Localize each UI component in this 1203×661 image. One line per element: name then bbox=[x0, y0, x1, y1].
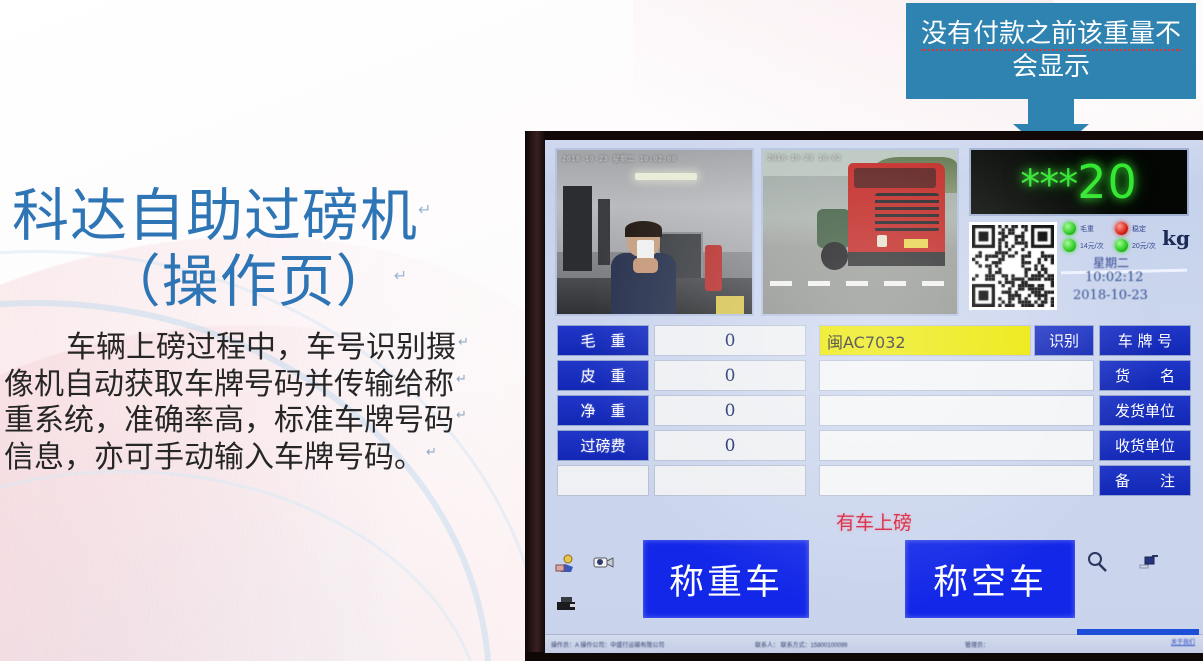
field-value-gross-weight[interactable]: 0 bbox=[654, 325, 806, 356]
weigh-loaded-button[interactable]: 称重车 bbox=[643, 540, 809, 618]
remark-input[interactable] bbox=[819, 465, 1094, 496]
indicator-lamps: 毛重 稳定 14元/次 20元/次 kg bbox=[1063, 220, 1191, 256]
led-stars: *** bbox=[1020, 162, 1077, 208]
field-label-shipper: 发货单位 bbox=[1099, 395, 1191, 426]
search-icon[interactable] bbox=[1085, 550, 1109, 574]
status-message: 有车上磅 bbox=[545, 508, 1203, 535]
camera-timestamp: 2018-10-23 10:02 bbox=[768, 154, 842, 162]
led-weight-display: ***20 bbox=[969, 148, 1189, 216]
callout-box: 没有付款之前该重量不 会显示 bbox=[906, 3, 1196, 99]
body-line-3: 重系统，准确率高，标准车牌号码 bbox=[4, 403, 454, 438]
shipper-input[interactable] bbox=[819, 395, 1094, 426]
indicator-label-gross: 毛重 bbox=[1080, 224, 1094, 234]
operator-camera-feed[interactable]: 2018-10-23 星期二 10:02:00 bbox=[555, 148, 754, 316]
monitor-bezel-top bbox=[525, 131, 1203, 140]
callout-arrow-stem bbox=[1028, 99, 1074, 125]
form-row: 备 注 bbox=[557, 465, 1191, 496]
slide-body-text: 车辆上磅过程中，车号识别摄↵ 像机自动获取车牌号码并传输给称↵ 重系统，准确率高… bbox=[4, 330, 510, 476]
qr-code-icon[interactable] bbox=[969, 222, 1057, 310]
indicator-lamp-fee20 bbox=[1115, 239, 1128, 252]
plate-number-input[interactable]: 闽AC7032 bbox=[819, 325, 1031, 356]
display-panel: ***20 毛重 稳定 14元/次 20元/次 kg 星期 bbox=[965, 146, 1193, 316]
statusbar-left-text: 操作员：A 操作公司：中盛行运输有限公司 bbox=[551, 640, 664, 649]
yellow-object bbox=[716, 296, 743, 314]
truck-bumper bbox=[848, 252, 945, 267]
body-line-2: 像机自动获取车牌号码并传输给称 bbox=[4, 367, 454, 402]
consignee-input[interactable] bbox=[819, 430, 1094, 461]
indicator-lamp-fee14 bbox=[1063, 239, 1076, 252]
camera-timestamp: 2018-10-23 星期二 10:02:00 bbox=[562, 154, 677, 164]
taskbar-highlight bbox=[1077, 629, 1199, 635]
body-pilcrow-4: ↵ bbox=[424, 445, 437, 460]
field-label-plate-number: 车 牌 号 bbox=[1099, 325, 1191, 356]
form-row: 净 重 0 发货单位 bbox=[557, 395, 1191, 426]
printer-icon[interactable] bbox=[555, 596, 579, 612]
form-gap bbox=[806, 360, 815, 391]
unit-label: kg bbox=[1162, 226, 1190, 250]
field-label-consignee: 收货单位 bbox=[1099, 430, 1191, 461]
title-line-2: （操作页） bbox=[104, 249, 394, 315]
title-line-1: 科达自助过磅机 bbox=[12, 183, 418, 249]
form-gap bbox=[806, 395, 815, 426]
field-value-net-weight[interactable]: 0 bbox=[654, 395, 806, 426]
app-status-bar: 操作员：A 操作公司：中盛行运输有限公司 联系人： 联系方式：158001000… bbox=[545, 634, 1203, 653]
field-label-goods-name: 货 名 bbox=[1099, 360, 1191, 391]
camera-icon[interactable] bbox=[591, 554, 615, 572]
callout-text: 没有付款之前该重量不 会显示 bbox=[906, 18, 1196, 85]
weighing-form: 毛 重 0 闽AC7032 识别 车 牌 号 皮 重 0 货 名 bbox=[557, 325, 1191, 500]
body-line-4: 信息，亦可手动输入车牌号码。 bbox=[4, 440, 424, 475]
display-info: 毛重 稳定 14元/次 20元/次 kg 星期二 10:02:12 2018-1… bbox=[1063, 220, 1191, 312]
indicator-label-fee14: 14元/次 bbox=[1080, 241, 1104, 251]
title-pilcrow-2: ↵ bbox=[394, 266, 408, 285]
form-row: 毛 重 0 闽AC7032 识别 车 牌 号 bbox=[557, 325, 1191, 356]
callout-line-1: 没有付款之前该重量不 bbox=[921, 19, 1181, 51]
body-pilcrow-3: ↵ bbox=[454, 408, 467, 423]
goods-name-input[interactable] bbox=[819, 360, 1094, 391]
field-value-tare-weight[interactable]: 0 bbox=[654, 360, 806, 391]
led-number: 20 bbox=[1077, 155, 1138, 209]
wall-panel-2 bbox=[598, 199, 610, 265]
truck-camera-feed[interactable]: 2018-10-23 10:02 bbox=[761, 148, 960, 316]
clock-date: 2018-10-23 bbox=[1073, 288, 1148, 303]
body-pilcrow-2: ↵ bbox=[454, 372, 467, 387]
operator-hand bbox=[633, 258, 658, 273]
field-label-net-weight: 净 重 bbox=[557, 395, 649, 426]
callout-line-2: 会显示 bbox=[1012, 52, 1090, 82]
field-label-gross-weight: 毛 重 bbox=[557, 325, 649, 356]
red-object bbox=[705, 245, 723, 291]
statusbar-right-text: 管理员： bbox=[965, 640, 989, 649]
wall-panel bbox=[563, 186, 592, 271]
user-icon[interactable] bbox=[555, 554, 577, 574]
form-gap bbox=[806, 430, 815, 461]
field-label-tare-weight: 皮 重 bbox=[557, 360, 649, 391]
monitor-bezel-left bbox=[525, 131, 545, 661]
truck-license-plate bbox=[904, 239, 927, 249]
form-row: 过磅费 0 收货单位 bbox=[557, 430, 1191, 461]
weekday-label: 星期二 bbox=[1093, 254, 1129, 271]
about-link[interactable]: 关于我们 bbox=[1171, 637, 1195, 646]
action-button-row: 称重车 称空车 bbox=[545, 540, 1203, 622]
slide-canvas: 科达自助过磅机↵ （操作页）↵ 车辆上磅过程中，车号识别摄↵ 像机自动获取车牌号… bbox=[0, 0, 1203, 661]
form-gap bbox=[806, 465, 815, 496]
weighbridge-app-screen: 2018-10-23 星期二 10:02:00 2018-10-23 10: bbox=[545, 140, 1203, 653]
title-pilcrow-1: ↵ bbox=[418, 200, 432, 219]
recognize-button[interactable]: 识别 bbox=[1034, 325, 1094, 356]
road-lane-marking bbox=[770, 281, 949, 286]
indicator-lamp-gross bbox=[1063, 222, 1076, 235]
indicator-label-fee20: 20元/次 bbox=[1132, 241, 1156, 251]
truck-grille bbox=[875, 193, 939, 232]
form-row: 皮 重 0 货 名 bbox=[557, 360, 1191, 391]
field-label-remark: 备 注 bbox=[1099, 465, 1191, 496]
field-value-weighing-fee[interactable]: 0 bbox=[654, 430, 806, 461]
body-line-1: 车辆上磅过程中，车号识别摄 bbox=[66, 330, 456, 365]
truck-windshield bbox=[854, 168, 936, 188]
monitor-bezel-bottom bbox=[525, 652, 1203, 661]
blank-value-cell bbox=[654, 465, 806, 496]
indicator-label-stable: 稳定 bbox=[1132, 224, 1146, 234]
indicator-lamp-stable bbox=[1115, 222, 1128, 235]
field-label-weighing-fee: 过磅费 bbox=[557, 430, 649, 461]
camera-feeds: 2018-10-23 星期二 10:02:00 2018-10-23 10: bbox=[555, 148, 959, 316]
weigh-empty-button[interactable]: 称空车 bbox=[905, 540, 1075, 618]
form-gap bbox=[806, 325, 815, 356]
clock-time: 10:02:12 bbox=[1085, 270, 1143, 285]
statusbar-mid-text: 联系人： 联系方式：15800100099 bbox=[755, 640, 847, 649]
truck-headlight bbox=[877, 235, 887, 246]
settings-icon[interactable] bbox=[1137, 552, 1161, 572]
slide-title: 科达自助过磅机↵ （操作页）↵ bbox=[6, 183, 506, 315]
monitor-photo: 2018-10-23 星期二 10:02:00 2018-10-23 10: bbox=[525, 131, 1203, 661]
ceiling-light bbox=[635, 173, 697, 180]
truck-wheel bbox=[821, 242, 848, 270]
operator-hair bbox=[625, 221, 662, 237]
blank-cell bbox=[557, 465, 649, 496]
led-value: ***20 bbox=[1020, 159, 1138, 205]
body-pilcrow-1: ↵ bbox=[456, 335, 469, 350]
